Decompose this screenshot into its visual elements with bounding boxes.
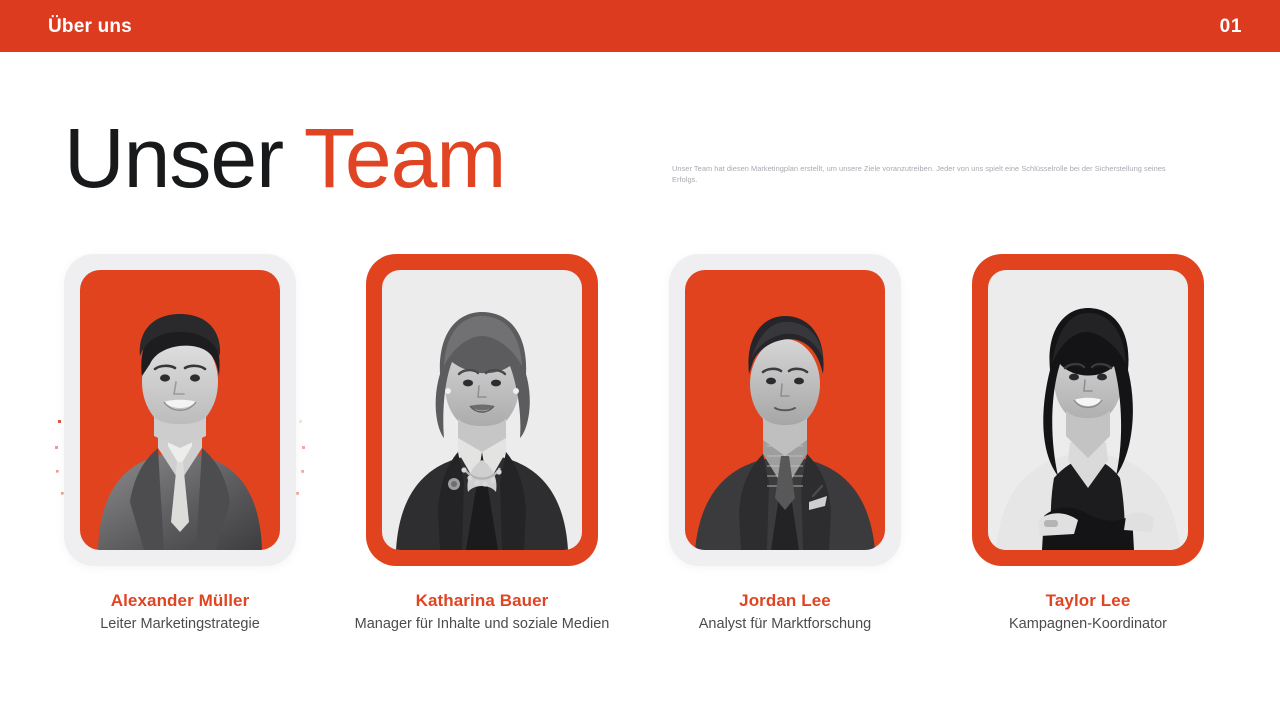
page-subtitle: Unser Team hat diesen Marketingplan erst…	[672, 163, 1184, 185]
member-photo-frame	[366, 254, 598, 566]
member-photo	[988, 270, 1188, 550]
member-photo-frame	[972, 254, 1204, 566]
team-strip: Alexander Müller Leiter Marketingstrateg…	[0, 250, 1280, 680]
member-name: Katharina Bauer	[332, 590, 632, 612]
header-slide-number: 01	[1220, 17, 1242, 36]
page-title-word-dark: Unser	[64, 111, 283, 205]
member-role: Manager für Inhalte und soziale Medien	[332, 615, 632, 634]
page-title-word-accent: Team	[304, 111, 505, 205]
member-photo-frame	[669, 254, 901, 566]
member-name: Jordan Lee	[635, 590, 935, 612]
member-caption: Jordan Lee Analyst für Marktforschung	[625, 590, 945, 634]
member-photo	[80, 270, 280, 550]
member-name: Alexander Müller	[30, 590, 330, 612]
team-member-card[interactable]: Taylor Lee Kampagnen-Koordinator	[928, 250, 1248, 680]
title-row: Unser Team Unser Team hat diesen Marketi…	[0, 108, 1280, 208]
team-member-card[interactable]: Alexander Müller Leiter Marketingstrateg…	[20, 250, 340, 680]
member-role: Analyst für Marktforschung	[635, 615, 935, 634]
member-caption: Taylor Lee Kampagnen-Koordinator	[928, 590, 1248, 634]
team-member-card[interactable]: Jordan Lee Analyst für Marktforschung	[625, 250, 945, 680]
member-name: Taylor Lee	[938, 590, 1238, 612]
member-role: Kampagnen-Koordinator	[938, 615, 1238, 634]
member-photo	[685, 270, 885, 550]
member-caption: Alexander Müller Leiter Marketingstrateg…	[20, 590, 340, 634]
team-member-card[interactable]: Katharina Bauer Manager für Inhalte und …	[322, 250, 642, 680]
member-role: Leiter Marketingstrategie	[30, 615, 330, 634]
header-bar: Über uns 01	[0, 0, 1280, 52]
page-title: Unser Team	[64, 108, 505, 208]
member-photo	[382, 270, 582, 550]
member-caption: Katharina Bauer Manager für Inhalte und …	[322, 590, 642, 634]
member-photo-frame	[64, 254, 296, 566]
header-section-title: Über uns	[48, 17, 132, 36]
